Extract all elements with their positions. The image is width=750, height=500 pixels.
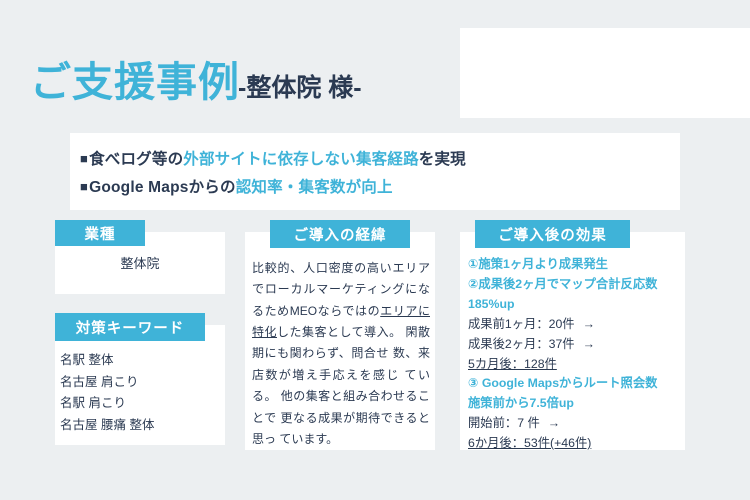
keyword-list: 名駅 整体名古屋 肩こり名駅 肩こり名古屋 腰痛 整体: [60, 350, 225, 436]
keyword-item: 名古屋 腰痛 整体: [60, 415, 225, 437]
effect-row: ③ Google Mapsからルート照会数: [468, 374, 683, 394]
history-tab-label: ご導入の経緯: [270, 220, 410, 248]
summary-line-2: ■Google Mapsからの認知率・集客数が向上: [80, 175, 393, 197]
summary-band: ■食べログ等の外部サイトに依存しない集客経路を実現 ■Google Mapsから…: [70, 133, 680, 210]
arrow-icon: →: [548, 416, 560, 430]
arrow-icon: →: [583, 317, 595, 331]
effect-row-text: ③ Google Mapsからルート照会数: [468, 376, 657, 390]
keyword-item: 名駅 肩こり: [60, 393, 225, 415]
industry-tab-label: 業種: [55, 220, 145, 246]
arrow-icon: →: [583, 337, 595, 351]
bullet-square-icon: ■: [80, 179, 88, 194]
effect-row: 施策前から7.5倍up: [468, 394, 683, 414]
effect-tab-label: ご導入後の効果: [475, 220, 630, 248]
effect-row: ①施策1ヶ月より成果発生: [468, 255, 683, 275]
effect-row-text: 成果後2ヶ月：37件: [468, 337, 575, 351]
effect-row: 5カ月後：128件: [468, 355, 683, 375]
bullet-square-icon: ■: [80, 151, 88, 166]
summary-line-1-part1: 食べログ等の: [89, 151, 183, 168]
effect-row: 6か月後：53件(+46件): [468, 434, 683, 454]
effect-list: ①施策1ヶ月より成果発生②成果後2ヶ月でマップ合計反応数185%up成果前1ヶ月…: [468, 255, 683, 454]
effect-row-text: 6か月後：53件(+46件): [468, 436, 591, 450]
effect-row: 成果前1ヶ月：20件→: [468, 315, 683, 335]
keyword-tab-label: 対策キーワード: [55, 313, 205, 341]
summary-line-2-accent: 認知率・集客数が向上: [236, 179, 393, 196]
page-title: ご支援事例-整体院 様-: [30, 62, 362, 103]
summary-line-1: ■食べログ等の外部サイトに依存しない集客経路を実現: [80, 147, 466, 169]
history-text-tail: した集客として導入。 閑散期にも関わらず、問合せ 数、来店数が増え手応えを感じ …: [252, 325, 430, 446]
effect-row: 開始前：7 件→: [468, 414, 683, 434]
effect-row-text: 開始前：7 件: [468, 416, 540, 430]
slide-root: ご支援事例-整体院 様- ■食べログ等の外部サイトに依存しない集客経路を実現 ■…: [0, 0, 750, 500]
industry-value: 整体院: [55, 253, 225, 272]
effect-row-text: 185%up: [468, 297, 514, 311]
effect-row: 成果後2ヶ月：37件→: [468, 335, 683, 355]
effect-row-text: 施策前から7.5倍up: [468, 396, 574, 410]
page-title-main: ご支援事例: [30, 59, 240, 105]
page-title-sub: -整体院 様-: [238, 74, 362, 102]
effect-row-text: 5カ月後：128件: [468, 357, 557, 371]
summary-line-2-part1: Google Mapsからの: [89, 179, 236, 196]
history-text: 比較的、人口密度の高いエリアでローカルマーケティングになるためMEOならではのエ…: [252, 258, 430, 450]
effect-row-text: ②成果後2ヶ月でマップ合計反応数: [468, 277, 657, 291]
effect-row-text: ①施策1ヶ月より成果発生: [468, 257, 608, 271]
effect-row: 185%up: [468, 295, 683, 315]
effect-row-text: 成果前1ヶ月：20件: [468, 317, 575, 331]
logo-placeholder-box: [460, 28, 750, 118]
summary-line-1-part3: を実現: [419, 151, 466, 168]
keyword-item: 名古屋 肩こり: [60, 372, 225, 394]
keyword-item: 名駅 整体: [60, 350, 225, 372]
effect-row: ②成果後2ヶ月でマップ合計反応数: [468, 275, 683, 295]
summary-line-1-accent: 外部サイトに依存しない集客経路: [183, 151, 419, 168]
